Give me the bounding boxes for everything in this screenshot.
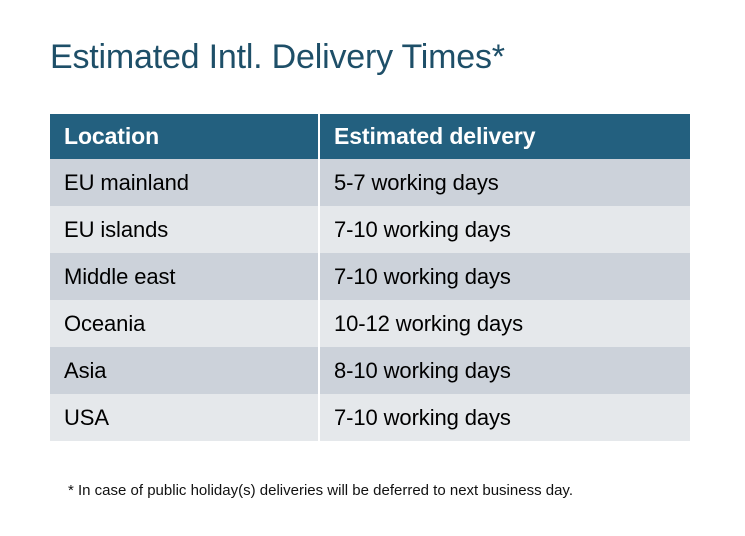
delivery-value: 10-12 working days (334, 311, 523, 337)
table-row: USA 7-10 working days (50, 394, 690, 441)
location-value: USA (64, 405, 109, 431)
table-row: Middle east 7-10 working days (50, 253, 690, 300)
estimated-delivery-times-table: Location Estimated delivery EU mainland … (50, 114, 690, 441)
column-header-delivery: Estimated delivery (320, 114, 690, 159)
page-title: Estimated Intl. Delivery Times* (50, 36, 505, 78)
table-body: EU mainland 5-7 working days EU islands … (50, 159, 690, 441)
cell-location: Oceania (50, 300, 320, 347)
column-header-location-label: Location (64, 123, 159, 150)
cell-delivery: 7-10 working days (320, 206, 690, 253)
delivery-times-page: Estimated Intl. Delivery Times* Location… (0, 0, 745, 536)
location-value: Oceania (64, 311, 145, 337)
location-value: EU mainland (64, 170, 189, 196)
cell-location: Asia (50, 347, 320, 394)
cell-delivery: 5-7 working days (320, 159, 690, 206)
cell-location: EU mainland (50, 159, 320, 206)
location-value: Asia (64, 358, 106, 384)
delivery-value: 5-7 working days (334, 170, 499, 196)
table-row: Asia 8-10 working days (50, 347, 690, 394)
column-header-location: Location (50, 114, 320, 159)
delivery-value: 8-10 working days (334, 358, 511, 384)
table-row: EU mainland 5-7 working days (50, 159, 690, 206)
table-row: EU islands 7-10 working days (50, 206, 690, 253)
table-header: Location Estimated delivery (50, 114, 690, 159)
cell-location: Middle east (50, 253, 320, 300)
location-value: EU islands (64, 217, 168, 243)
delivery-value: 7-10 working days (334, 264, 511, 290)
cell-location: USA (50, 394, 320, 441)
table-row: Oceania 10-12 working days (50, 300, 690, 347)
cell-delivery: 10-12 working days (320, 300, 690, 347)
delivery-value: 7-10 working days (334, 217, 511, 243)
column-header-delivery-label: Estimated delivery (334, 123, 535, 150)
location-value: Middle east (64, 264, 175, 290)
table-header-row: Location Estimated delivery (50, 114, 690, 159)
cell-delivery: 8-10 working days (320, 347, 690, 394)
footnote: * In case of public holiday(s) deliverie… (68, 481, 573, 501)
delivery-value: 7-10 working days (334, 405, 511, 431)
cell-delivery: 7-10 working days (320, 394, 690, 441)
cell-location: EU islands (50, 206, 320, 253)
cell-delivery: 7-10 working days (320, 253, 690, 300)
